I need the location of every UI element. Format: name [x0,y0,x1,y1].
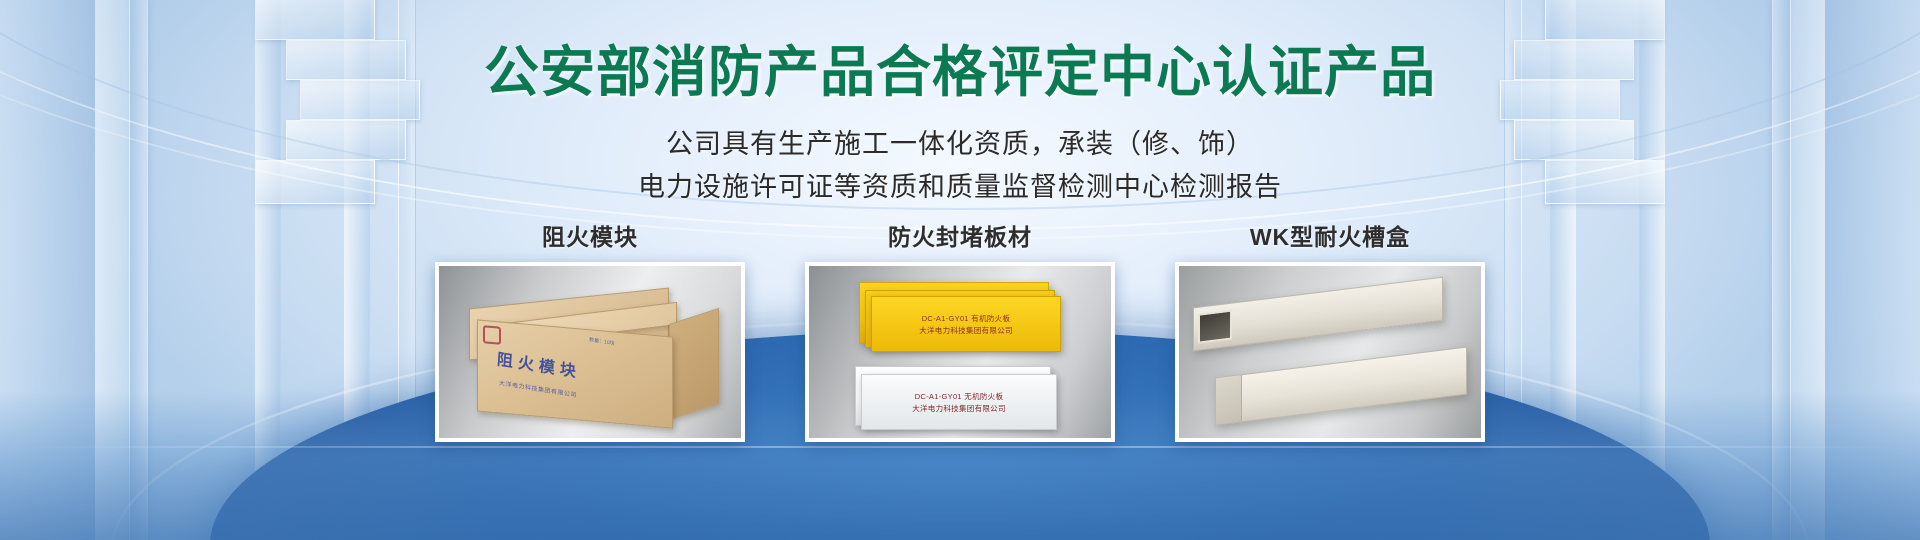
yellow-board-label: DC-A1-GY01 有机防火板 大洋电力科技集团有限公司 [872,313,1060,338]
product-title: WK型耐火槽盒 [1175,218,1485,252]
trunking-opening [1198,310,1232,344]
trunking-upper [1193,277,1443,352]
product-card-fire-boards[interactable]: 防火封堵板材 DC-A1-GY01 有机防火板 大洋电力科技集团有限公司 DC-… [805,218,1115,442]
banner-subtitle-line-2: 电力设施许可证等资质和质量监督检测中心检测报告 [0,165,1920,204]
product-title: 阻火模块 [435,218,745,252]
trunking-lower [1215,347,1467,426]
product-card-wk-trunking[interactable]: WK型耐火槽盒 [1175,218,1485,442]
carton-boxes-photo: 阻火模块 大洋电力科技集团有限公司 数量：10块 [435,262,745,442]
product-card-fire-block[interactable]: 阻火模块 阻火模块 大洋电力科技集团有限公司 数量：10块 [435,218,745,442]
banner-subtitle-line-1: 公司具有生产施工一体化资质，承装（修、饰） [0,122,1920,161]
promo-banner: 公安部消防产品合格评定中心认证产品 公司具有生产施工一体化资质，承装（修、饰） … [0,0,1920,540]
white-board-front: DC-A1-GY01 无机防火板 大洋电力科技集团有限公司 [861,374,1057,430]
trunking-end-cap [1216,375,1242,424]
white-board-label: DC-A1-GY01 无机防火板 大洋电力科技集团有限公司 [862,391,1056,416]
carton-box-side [669,308,719,420]
product-card-list: 阻火模块 阻火模块 大洋电力科技集团有限公司 数量：10块 防火封堵板材 [0,218,1920,442]
carton-stamp-icon [483,325,501,345]
wk-trunking-photo [1175,262,1485,442]
product-title: 防火封堵板材 [805,218,1115,252]
banner-headline: 公安部消防产品合格评定中心认证产品 [0,44,1920,102]
yellow-board-front: DC-A1-GY01 有机防火板 大洋电力科技集团有限公司 [871,296,1061,352]
fire-boards-photo: DC-A1-GY01 有机防火板 大洋电力科技集团有限公司 DC-A1-GY01… [805,262,1115,442]
banner-content: 公安部消防产品合格评定中心认证产品 公司具有生产施工一体化资质，承装（修、饰） … [0,0,1920,540]
